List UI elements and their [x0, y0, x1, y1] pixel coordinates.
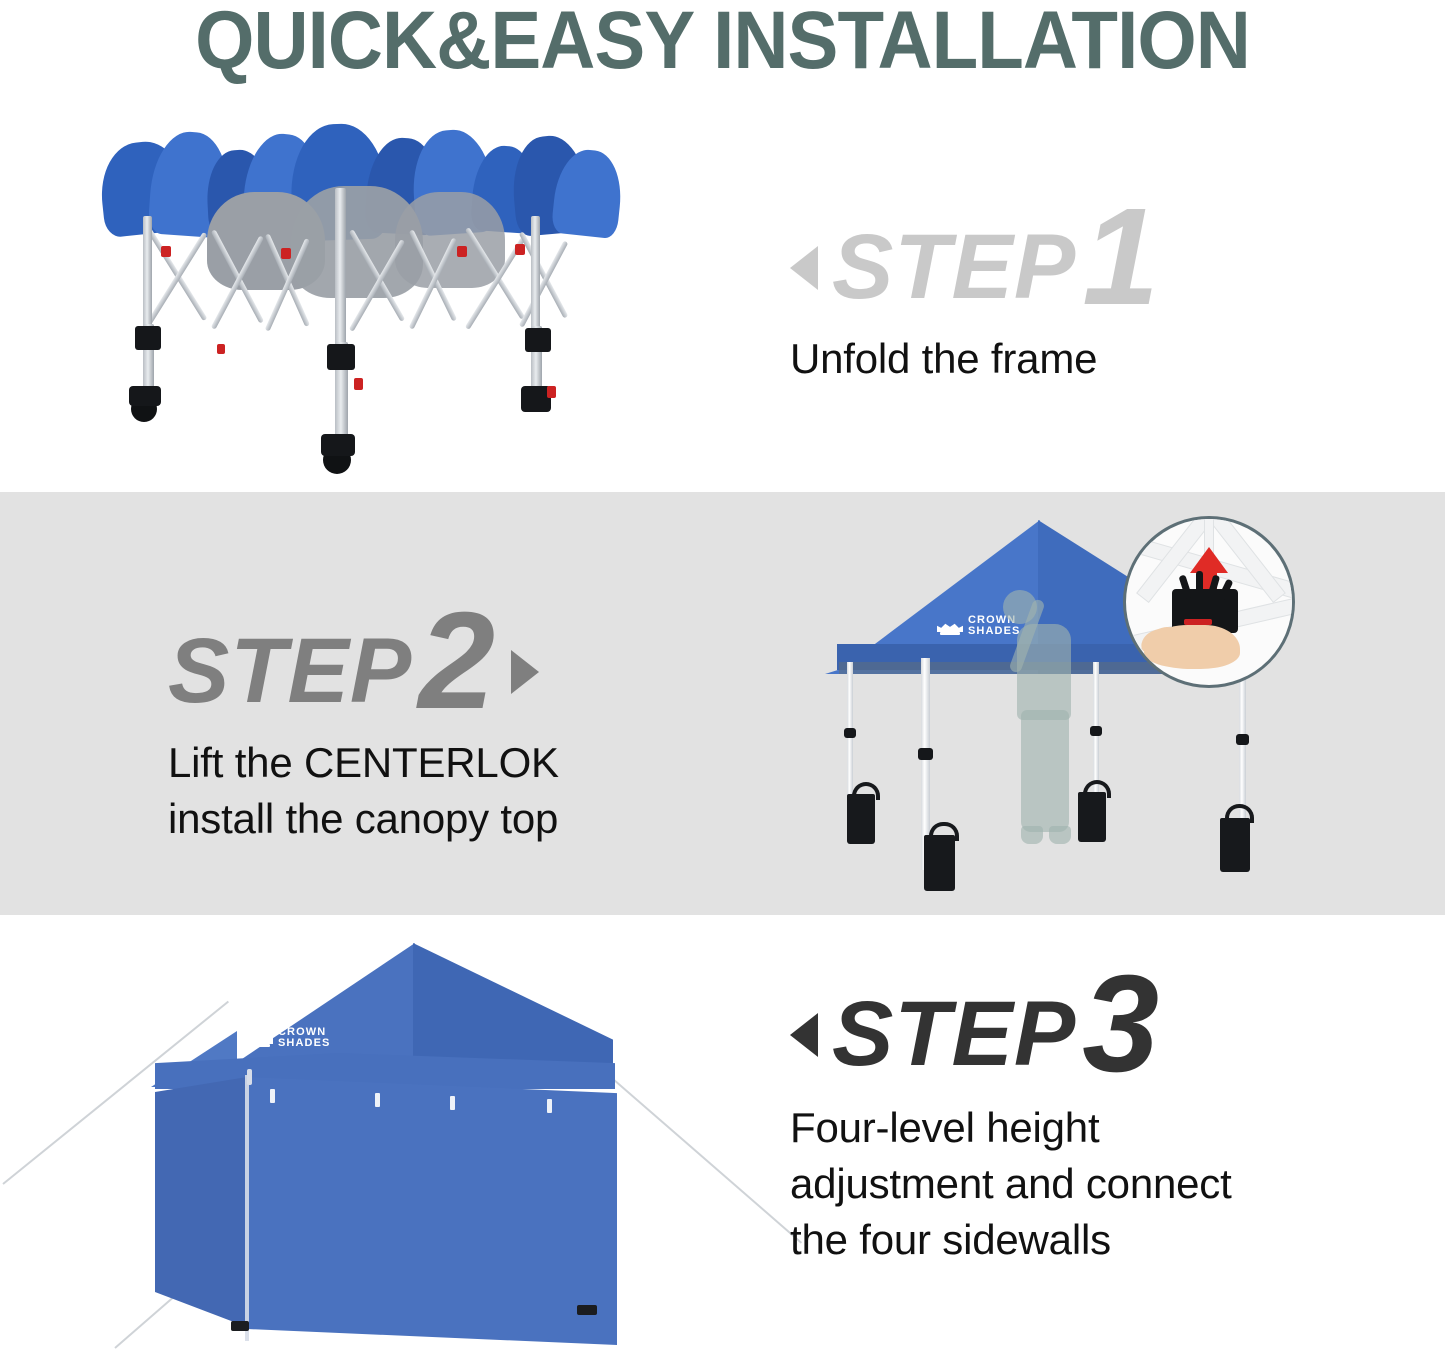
step-3-caption-line-1: Four-level height	[790, 1100, 1232, 1156]
step-2-number: 2	[418, 612, 495, 711]
step-1-caption: Unfold the frame	[790, 331, 1159, 387]
crown-shades-logo-icon	[247, 1029, 273, 1047]
infographic-page: QUICK&EASY INSTALLATION	[0, 0, 1445, 1350]
step-3-number: 3	[1082, 975, 1159, 1074]
step-3-illustration: CROWN SHADES	[55, 935, 775, 1347]
step-2-caption-line-2: install the canopy top	[168, 791, 559, 847]
step-2-text-block: STEP 2 Lift the CENTERLOK install the ca…	[168, 622, 559, 847]
brand-line-2: SHADES	[278, 1038, 330, 1049]
sidewall-left	[155, 1077, 247, 1327]
triangle-right-icon	[511, 650, 539, 694]
step-3-caption-line-3: the four sidewalls	[790, 1212, 1232, 1268]
sidewall-front	[245, 1077, 617, 1345]
step-2-caption-line-1: Lift the CENTERLOK	[168, 735, 559, 791]
crown-shades-logo-icon	[937, 617, 963, 635]
step-3-label: STEP	[832, 991, 1076, 1078]
step-1-illustration	[95, 128, 635, 483]
triangle-left-icon	[790, 246, 818, 290]
step-2-illustration: CROWN SHADES	[825, 512, 1295, 910]
step-2-label: STEP	[168, 628, 412, 715]
centerlok-inset	[1123, 516, 1295, 688]
brand-line-2: SHADES	[968, 626, 1020, 637]
page-title: QUICK&EASY INSTALLATION	[51, 0, 1395, 84]
step-1-label: STEP	[832, 224, 1076, 311]
step-1-text-block: STEP 1 Unfold the frame	[790, 218, 1159, 387]
brand-logo-step3: CROWN SHADES	[247, 1027, 330, 1049]
step-1-number: 1	[1082, 208, 1159, 307]
triangle-left-icon	[790, 1013, 818, 1057]
step-3-caption-line-2: adjustment and connect	[790, 1156, 1232, 1212]
step-3-text-block: STEP 3 Four-level height adjustment and …	[790, 985, 1232, 1268]
